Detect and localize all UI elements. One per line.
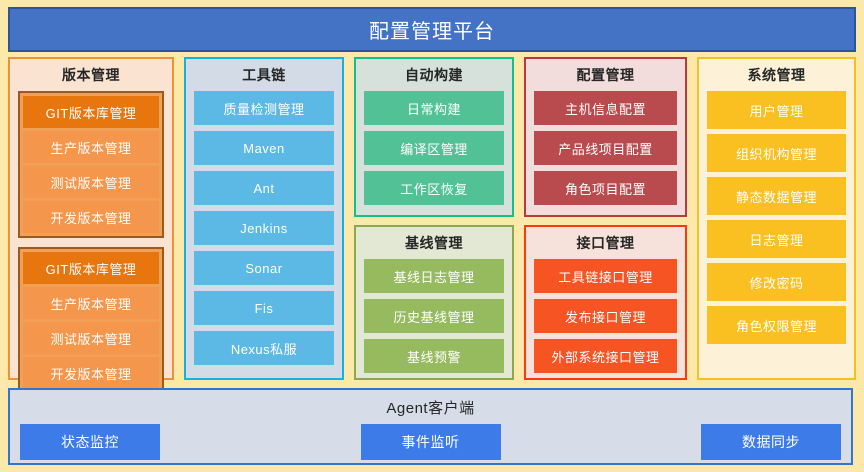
- item-production-version-management-2[interactable]: 生产版本管理: [23, 287, 159, 319]
- event-listener-button[interactable]: 事件监听: [361, 424, 501, 460]
- item-role-project-config[interactable]: 角色项目配置: [534, 171, 677, 205]
- item-change-password[interactable]: 修改密码: [707, 263, 846, 301]
- data-sync-button[interactable]: 数据同步: [701, 424, 841, 460]
- panel-title-interface-management: 接口管理: [534, 233, 677, 253]
- baseline-item-list: 基线日志管理 历史基线管理 基线预警: [364, 259, 504, 373]
- item-baseline-log-management[interactable]: 基线日志管理: [364, 259, 504, 293]
- panel-title-baseline-management: 基线管理: [364, 233, 504, 253]
- diagram-root: 配置管理平台 版本管理 GIT版本库管理 生产版本管理 测试版本管理 开发版本管…: [0, 0, 864, 472]
- columns-band: 版本管理 GIT版本库管理 生产版本管理 测试版本管理 开发版本管理 GIT版本…: [0, 57, 864, 380]
- item-product-line-project-config[interactable]: 产品线项目配置: [534, 131, 677, 165]
- item-host-info-config[interactable]: 主机信息配置: [534, 91, 677, 125]
- item-git-repo-management-2[interactable]: GIT版本库管理: [23, 252, 159, 284]
- item-test-version-management-2[interactable]: 测试版本管理: [23, 322, 159, 354]
- item-jenkins[interactable]: Jenkins: [194, 211, 334, 245]
- agent-client-button-row: 状态监控 事件监听 数据同步: [10, 424, 851, 460]
- item-toolchain-interface-management[interactable]: 工具链接口管理: [534, 259, 677, 293]
- page-title: 配置管理平台: [8, 7, 856, 52]
- item-dev-version-management-2[interactable]: 开发版本管理: [23, 357, 159, 389]
- item-log-management[interactable]: 日志管理: [707, 220, 846, 258]
- item-maven[interactable]: Maven: [194, 131, 334, 165]
- panel-agent-client: Agent客户端 状态监控 事件监听 数据同步: [8, 388, 853, 465]
- system-item-list: 用户管理 组织机构管理 静态数据管理 日志管理 修改密码 角色权限管理: [707, 91, 846, 344]
- item-test-version-management-1[interactable]: 测试版本管理: [23, 166, 159, 198]
- panel-version-management: 版本管理 GIT版本库管理 生产版本管理 测试版本管理 开发版本管理 GIT版本…: [8, 57, 174, 380]
- panel-config-management: 配置管理 主机信息配置 产品线项目配置 角色项目配置: [524, 57, 687, 217]
- item-baseline-alert[interactable]: 基线预警: [364, 339, 504, 373]
- panel-title-agent-client: Agent客户端: [10, 390, 851, 418]
- panel-title-toolchain: 工具链: [194, 65, 334, 85]
- toolchain-item-list: 质量检测管理 Maven Ant Jenkins Sonar Fis Nexus…: [194, 91, 334, 365]
- item-static-data-management[interactable]: 静态数据管理: [707, 177, 846, 215]
- config-item-list: 主机信息配置 产品线项目配置 角色项目配置: [534, 91, 677, 205]
- item-user-management[interactable]: 用户管理: [707, 91, 846, 129]
- item-workspace-recovery[interactable]: 工作区恢复: [364, 171, 504, 205]
- panel-title-auto-build: 自动构建: [364, 65, 504, 85]
- item-release-interface-management[interactable]: 发布接口管理: [534, 299, 677, 333]
- item-fis[interactable]: Fis: [194, 291, 334, 325]
- item-quality-inspection-management[interactable]: 质量检测管理: [194, 91, 334, 125]
- group-version-management-1: GIT版本库管理 生产版本管理 测试版本管理 开发版本管理: [18, 91, 164, 238]
- item-compile-area-management[interactable]: 编译区管理: [364, 131, 504, 165]
- interface-item-list: 工具链接口管理 发布接口管理 外部系统接口管理: [534, 259, 677, 373]
- panel-title-system-management: 系统管理: [707, 65, 846, 85]
- item-external-system-interface-management[interactable]: 外部系统接口管理: [534, 339, 677, 373]
- panel-baseline-management: 基线管理 基线日志管理 历史基线管理 基线预警: [354, 225, 514, 380]
- status-monitor-button[interactable]: 状态监控: [20, 424, 160, 460]
- item-dev-version-management-1[interactable]: 开发版本管理: [23, 201, 159, 233]
- item-git-repo-management-1[interactable]: GIT版本库管理: [23, 96, 159, 128]
- auto-build-item-list: 日常构建 编译区管理 工作区恢复: [364, 91, 504, 205]
- group-version-management-2: GIT版本库管理 生产版本管理 测试版本管理 开发版本管理: [18, 247, 164, 394]
- panel-system-management: 系统管理 用户管理 组织机构管理 静态数据管理 日志管理 修改密码 角色权限管理: [697, 57, 856, 380]
- item-nexus-private-repo[interactable]: Nexus私服: [194, 331, 334, 365]
- item-sonar[interactable]: Sonar: [194, 251, 334, 285]
- panel-auto-build: 自动构建 日常构建 编译区管理 工作区恢复: [354, 57, 514, 217]
- panel-interface-management: 接口管理 工具链接口管理 发布接口管理 外部系统接口管理: [524, 225, 687, 380]
- item-history-baseline-management[interactable]: 历史基线管理: [364, 299, 504, 333]
- panel-toolchain: 工具链 质量检测管理 Maven Ant Jenkins Sonar Fis N…: [184, 57, 344, 380]
- item-role-permission-management[interactable]: 角色权限管理: [707, 306, 846, 344]
- item-ant[interactable]: Ant: [194, 171, 334, 205]
- item-production-version-management-1[interactable]: 生产版本管理: [23, 131, 159, 163]
- panel-title-config-management: 配置管理: [534, 65, 677, 85]
- item-organization-management[interactable]: 组织机构管理: [707, 134, 846, 172]
- panel-title-version-management: 版本管理: [18, 65, 164, 85]
- item-daily-build[interactable]: 日常构建: [364, 91, 504, 125]
